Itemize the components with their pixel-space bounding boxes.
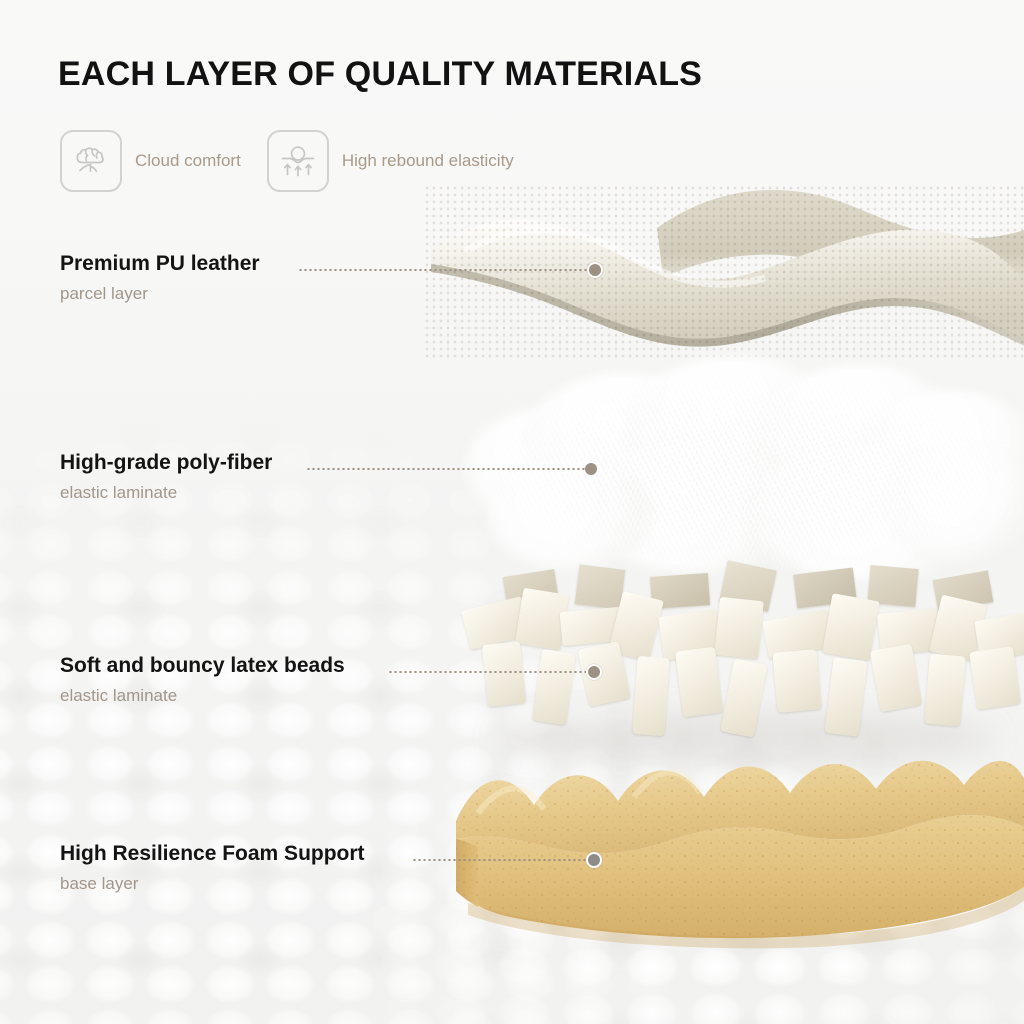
foam-support-visual xyxy=(448,735,1024,965)
callout-title: High-grade poly-fiber xyxy=(60,452,272,473)
badge-label: High rebound elasticity xyxy=(342,151,514,171)
callout-subtitle: parcel layer xyxy=(60,285,260,302)
leader-line-poly-fiber xyxy=(306,464,597,474)
leader-line-latex-beads xyxy=(388,667,602,677)
badge-label: Cloud comfort xyxy=(135,151,241,171)
callout-title: Premium PU leather xyxy=(60,253,260,274)
callout-pu-leather: Premium PU leather parcel layer xyxy=(60,253,260,302)
layer-marker-latex-beads[interactable] xyxy=(586,664,602,680)
callout-foam-support: High Resilience Foam Support base layer xyxy=(60,843,365,892)
callout-title: High Resilience Foam Support xyxy=(60,843,365,864)
layer-marker-foam-support[interactable] xyxy=(586,852,602,868)
badge-cloud-comfort: Cloud comfort xyxy=(60,130,241,192)
cloud-icon xyxy=(60,130,122,192)
callout-subtitle: base layer xyxy=(60,875,365,892)
infographic-canvas: EACH LAYER OF QUALITY MATERIALS Cloud co… xyxy=(0,0,1024,1024)
leader-dots xyxy=(298,269,587,271)
callout-poly-fiber: High-grade poly-fiber elastic laminate xyxy=(60,452,272,501)
callout-title: Soft and bouncy latex beads xyxy=(60,655,345,676)
leader-dots xyxy=(306,468,585,470)
leader-line-pu-leather xyxy=(298,265,603,275)
page-title: EACH LAYER OF QUALITY MATERIALS xyxy=(58,55,702,94)
feature-badges: Cloud comfort High rebound elasticity xyxy=(60,130,514,192)
callout-latex-beads: Soft and bouncy latex beads elastic lami… xyxy=(60,655,345,704)
leader-line-foam-support xyxy=(412,855,602,865)
layer-marker-pu-leather[interactable] xyxy=(587,262,603,278)
layer-marker-poly-fiber[interactable] xyxy=(585,463,597,475)
rebound-arrows-icon xyxy=(267,130,329,192)
callout-subtitle: elastic laminate xyxy=(60,484,272,501)
callout-subtitle: elastic laminate xyxy=(60,687,345,704)
badge-high-rebound: High rebound elasticity xyxy=(267,130,514,192)
leader-dots xyxy=(412,859,586,861)
leader-dots xyxy=(388,671,586,673)
